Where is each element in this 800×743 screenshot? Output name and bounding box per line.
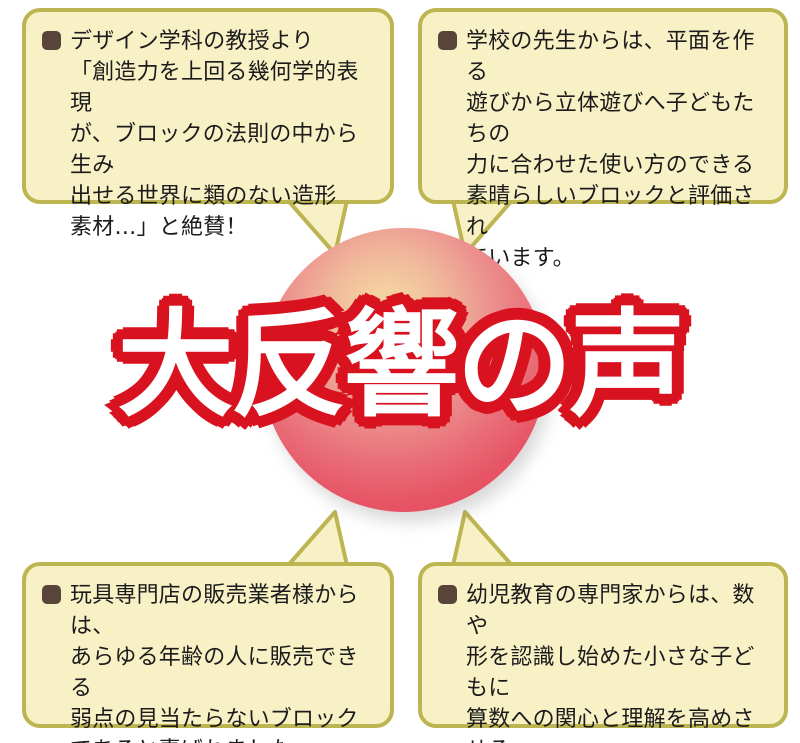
square-bullet-icon — [438, 31, 457, 50]
testimonial-bubble-bottom-left: 玩具専門店の販売業者様からは、 あらゆる年齢の人に販売できる 弱点の見当たらない… — [22, 562, 394, 728]
promo-graphic: 大反響の声 大反響の声 デザイン学科の教授より 「創造力を上回る幾何学的表現 が… — [0, 0, 800, 743]
headline-text: 大反響の声 — [0, 308, 800, 424]
testimonial-text-top-right: 学校の先生からは、平面を作る 遊びから立体遊びへ子どもたちの 力に合わせた使い方… — [466, 26, 768, 274]
square-bullet-icon — [42, 585, 61, 604]
testimonial-text-bottom-left: 玩具専門店の販売業者様からは、 あらゆる年齢の人に販売できる 弱点の見当たらない… — [70, 580, 374, 743]
square-bullet-icon — [42, 31, 61, 50]
testimonial-text-top-left: デザイン学科の教授より 「創造力を上回る幾何学的表現 が、ブロックの法則の中から… — [70, 26, 374, 243]
testimonial-bubble-top-right: 学校の先生からは、平面を作る 遊びから立体遊びへ子どもたちの 力に合わせた使い方… — [418, 8, 788, 204]
testimonial-bubble-bottom-right: 幼児教育の専門家からは、数や 形を認識し始めた小さな子どもに 算数への関心と理解… — [418, 562, 788, 728]
testimonial-bubble-top-left: デザイン学科の教授より 「創造力を上回る幾何学的表現 が、ブロックの法則の中から… — [22, 8, 394, 204]
testimonial-text-bottom-right: 幼児教育の専門家からは、数や 形を認識し始めた小さな子どもに 算数への関心と理解… — [466, 580, 768, 743]
square-bullet-icon — [438, 585, 457, 604]
